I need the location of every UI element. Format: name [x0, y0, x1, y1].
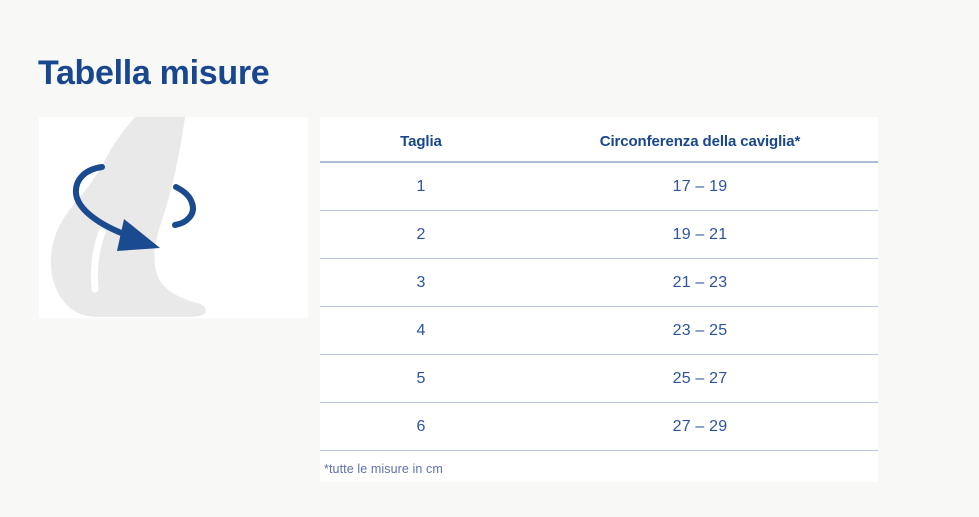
- table-row: 6 27 – 29: [320, 403, 878, 451]
- table-row: 2 19 – 21: [320, 211, 878, 259]
- table-body: 1 17 – 19 2 19 – 21 3 21 – 23 4 23 – 25 …: [320, 162, 878, 451]
- cell-circumference: 21 – 23: [522, 259, 878, 307]
- table-footnote: *tutte le misure in cm: [320, 451, 878, 476]
- page-title: Tabella misure: [38, 55, 269, 92]
- cell-circumference: 25 – 27: [522, 355, 878, 403]
- column-header-circumference: Circonferenza della caviglia*: [522, 117, 878, 162]
- leg-foot-silhouette: [51, 117, 206, 317]
- cell-size: 1: [320, 162, 522, 211]
- ankle-measurement-illustration: [39, 117, 308, 318]
- size-table: Taglia Circonferenza della caviglia* 1 1…: [320, 117, 878, 451]
- table-row: 4 23 – 25: [320, 307, 878, 355]
- cell-circumference: 19 – 21: [522, 211, 878, 259]
- size-table-card: Taglia Circonferenza della caviglia* 1 1…: [320, 117, 878, 482]
- cell-size: 5: [320, 355, 522, 403]
- cell-circumference: 27 – 29: [522, 403, 878, 451]
- cell-circumference: 17 – 19: [522, 162, 878, 211]
- column-header-size: Taglia: [320, 117, 522, 162]
- table-header-row: Taglia Circonferenza della caviglia*: [320, 117, 878, 162]
- table-row: 1 17 – 19: [320, 162, 878, 211]
- cell-size: 4: [320, 307, 522, 355]
- cell-circumference: 23 – 25: [522, 307, 878, 355]
- cell-size: 3: [320, 259, 522, 307]
- cell-size: 2: [320, 211, 522, 259]
- cell-size: 6: [320, 403, 522, 451]
- table-row: 5 25 – 27: [320, 355, 878, 403]
- table-row: 3 21 – 23: [320, 259, 878, 307]
- size-chart-page: Tabella misure: [0, 0, 979, 517]
